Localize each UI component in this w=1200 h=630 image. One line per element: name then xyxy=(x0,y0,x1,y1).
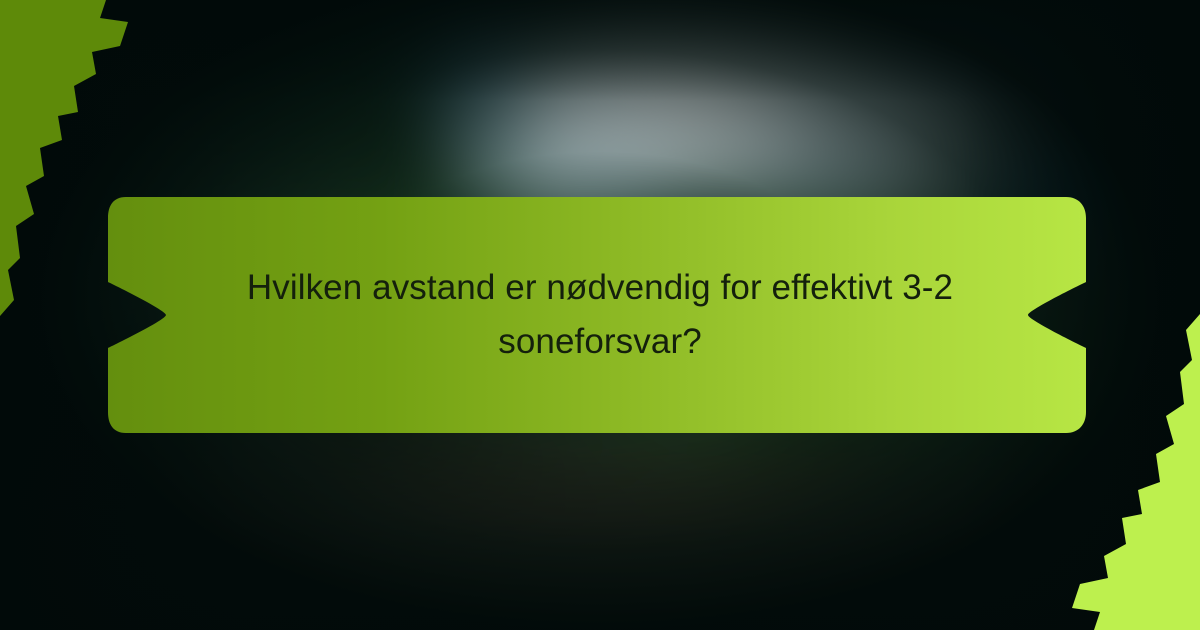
question-text-container: Hvilken avstand er nødvendig for effekti… xyxy=(190,190,1010,440)
question-text: Hvilken avstand er nødvendig for effekti… xyxy=(190,261,1010,370)
quiz-card-canvas: Hvilken avstand er nødvendig for effekti… xyxy=(0,0,1200,630)
